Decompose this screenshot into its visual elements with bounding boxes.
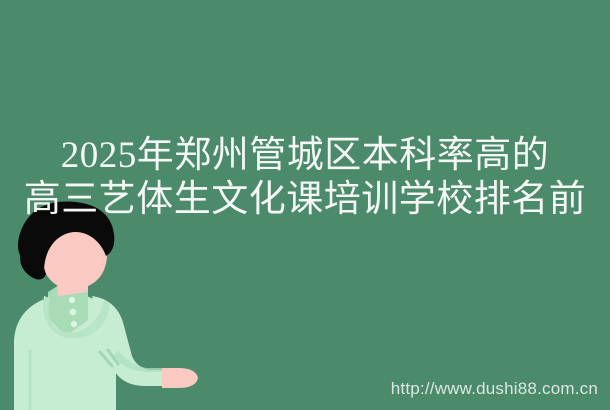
site-watermark: http://www.dushi88.com.cn <box>391 379 598 399</box>
promo-banner: 2025年郑州管城区本科率高的 高三艺体生文化课培训学校排名前 http://w… <box>0 0 610 410</box>
sweater-shape <box>14 294 186 410</box>
headline-line-1: 2025年郑州管城区本科率高的 <box>0 134 610 178</box>
banner-headline: 2025年郑州管城区本科率高的 高三艺体生文化课培训学校排名前 <box>0 134 610 222</box>
student-figure-illustration <box>0 200 210 410</box>
headline-line-2: 高三艺体生文化课培训学校排名前 <box>0 178 610 222</box>
hand-shape <box>162 368 198 388</box>
